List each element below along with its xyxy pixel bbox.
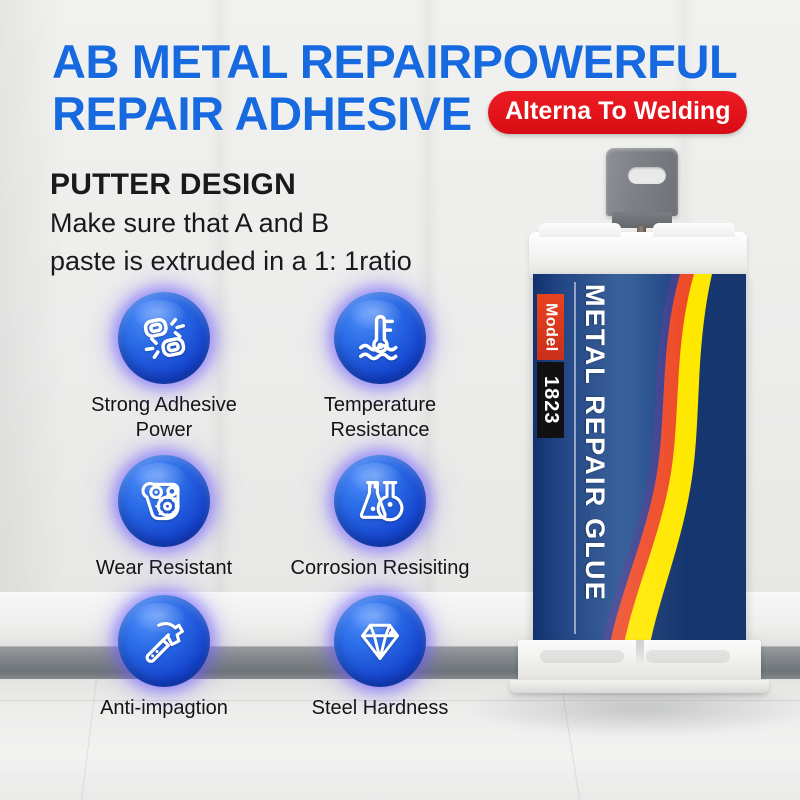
label-wave-graphic bbox=[602, 274, 746, 644]
label-rule bbox=[574, 282, 576, 634]
broken-chain-link-icon bbox=[136, 310, 192, 366]
base-notch bbox=[646, 650, 730, 663]
feature-label: Steel Hardness bbox=[312, 696, 449, 721]
subcopy-line-1: Make sure that A and B bbox=[50, 204, 412, 242]
feature-label: Anti-impagtion bbox=[100, 696, 228, 721]
feature-label: Temperature Resistance bbox=[324, 393, 436, 443]
feature-item-anti-impaction: Anti-impagtion bbox=[60, 595, 268, 721]
feature-item-wear-resistant: Wear Resistant bbox=[60, 455, 268, 581]
model-number-box: 1823 bbox=[537, 362, 564, 438]
subcopy-title: PUTTER DESIGN bbox=[50, 166, 412, 204]
feature-item-temperature-resistance: Temperature Resistance bbox=[276, 292, 484, 443]
headline-line-1: AB METAL REPAIRPOWERFUL bbox=[52, 35, 737, 88]
hammer-icon bbox=[136, 613, 192, 669]
subcopy-block: PUTTER DESIGN Make sure that A and B pas… bbox=[50, 166, 412, 280]
feature-label: Wear Resistant bbox=[96, 556, 232, 581]
plunger-slot bbox=[628, 167, 666, 184]
feature-label: Corrosion Resisiting bbox=[291, 556, 470, 581]
feature-orb bbox=[118, 455, 210, 547]
base-center-gap bbox=[636, 640, 644, 666]
cartridge-label: METAL REPAIR GLUE Model 1823 bbox=[533, 274, 746, 644]
feature-item-strong-adhesive-power: Strong Adhesive Power bbox=[60, 292, 268, 443]
feature-orb bbox=[334, 595, 426, 687]
belt-pulley-gear-icon bbox=[136, 473, 192, 529]
feature-grid: Strong Adhesive Power Temperature Resist… bbox=[0, 292, 500, 721]
feature-orb bbox=[118, 292, 210, 384]
feature-row: Strong Adhesive Power Temperature Resist… bbox=[0, 292, 500, 443]
diamond-icon bbox=[352, 613, 408, 669]
cartridge-top-cap bbox=[529, 232, 747, 278]
feature-row: Anti-impagtion Steel Hardness bbox=[0, 595, 500, 721]
feature-orb bbox=[118, 595, 210, 687]
feature-orb bbox=[334, 455, 426, 547]
base-notch bbox=[540, 650, 624, 663]
cartridge-base-lip bbox=[510, 680, 769, 693]
lab-flasks-icon bbox=[352, 473, 408, 529]
plunger-cap bbox=[606, 148, 678, 216]
model-label-box: Model bbox=[537, 294, 564, 360]
model-label-text: Model bbox=[542, 303, 560, 352]
feature-item-steel-hardness: Steel Hardness bbox=[276, 595, 484, 721]
product-name-vertical: METAL REPAIR GLUE bbox=[581, 284, 608, 602]
status-badge: Alterna To Welding bbox=[488, 91, 747, 134]
feature-orb bbox=[334, 292, 426, 384]
feature-item-corrosion-resisting: Corrosion Resisiting bbox=[276, 455, 484, 581]
subcopy-line-2: paste is extruded in a 1: 1ratio bbox=[50, 242, 412, 280]
product-cartridge: METAL REPAIR GLUE Model 1823 bbox=[500, 140, 800, 750]
feature-row: Wear Resistant Corrosion Resisiting bbox=[0, 455, 500, 581]
thermometer-water-icon bbox=[352, 310, 408, 366]
model-number-text: 1823 bbox=[539, 376, 562, 425]
feature-label: Strong Adhesive Power bbox=[91, 393, 237, 443]
